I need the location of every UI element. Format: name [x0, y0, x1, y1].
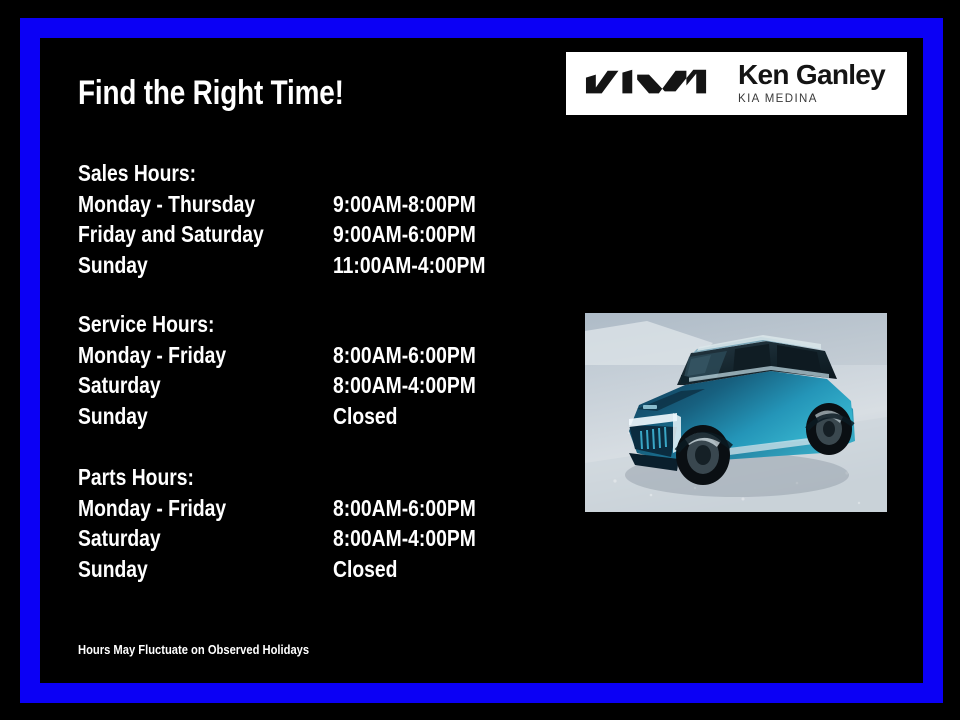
- hours-block-sales: Sales Hours: Monday - Thursday 9:00AM-8:…: [78, 158, 219, 280]
- hours-row: Sunday 11:00AM-4:00PM: [78, 250, 219, 281]
- vehicle-photo: [585, 313, 887, 512]
- holiday-disclaimer: Hours May Fluctuate on Observed Holidays: [78, 642, 309, 657]
- hours-row-time: 8:00AM-4:00PM: [333, 523, 476, 554]
- hours-block-heading: Sales Hours:: [78, 158, 196, 189]
- hours-block-parts: Parts Hours: Monday - Friday 8:00AM-6:00…: [78, 462, 216, 584]
- hours-row-day: Sunday: [78, 250, 148, 281]
- hours-row: Sunday Closed: [78, 554, 216, 585]
- hours-row-time: Closed: [333, 401, 397, 432]
- hours-row: Monday - Friday 8:00AM-6:00PM: [78, 493, 216, 524]
- hours-row-day: Monday - Friday: [78, 340, 226, 371]
- hours-block-service: Service Hours: Monday - Friday 8:00AM-6:…: [78, 309, 240, 431]
- hours-row-day: Sunday: [78, 401, 148, 432]
- dealer-name: Ken Ganley: [738, 60, 885, 90]
- hours-row-day: Sunday: [78, 554, 148, 585]
- hours-block-heading: Service Hours:: [78, 309, 214, 340]
- hours-row: Saturday 8:00AM-4:00PM: [78, 523, 216, 554]
- hours-row: Saturday 8:00AM-4:00PM: [78, 370, 240, 401]
- hours-row-day: Monday - Friday: [78, 493, 226, 524]
- hours-row: Monday - Friday 8:00AM-6:00PM: [78, 340, 240, 371]
- hours-row-time: 8:00AM-6:00PM: [333, 493, 476, 524]
- dealer-location: KIA MEDINA: [738, 91, 885, 107]
- hours-row-time: 9:00AM-6:00PM: [333, 219, 476, 250]
- hours-row-day: Friday and Saturday: [78, 219, 264, 250]
- hours-row-time: 9:00AM-8:00PM: [333, 189, 476, 220]
- hours-row-time: 11:00AM-4:00PM: [333, 250, 485, 281]
- hours-row-day: Saturday: [78, 370, 161, 401]
- dealer-name-block: Ken Ganley KIA MEDINA: [738, 60, 885, 107]
- slide-canvas: Find the Right Time! Sales Hours: Monday…: [0, 0, 960, 720]
- hours-row-day: Monday - Thursday: [78, 189, 255, 220]
- hours-row-day: Saturday: [78, 523, 161, 554]
- slide-content: Find the Right Time! Sales Hours: Monday…: [0, 0, 960, 720]
- hours-row-time: Closed: [333, 554, 397, 585]
- kia-logo-icon: [584, 67, 712, 101]
- dealer-logo: Ken Ganley KIA MEDINA: [566, 52, 907, 115]
- hours-row-time: 8:00AM-6:00PM: [333, 340, 476, 371]
- hours-row-time: 8:00AM-4:00PM: [333, 370, 476, 401]
- hours-row: Friday and Saturday 9:00AM-6:00PM: [78, 219, 219, 250]
- hours-row: Sunday Closed: [78, 401, 240, 432]
- hours-row: Monday - Thursday 9:00AM-8:00PM: [78, 189, 219, 220]
- page-title: Find the Right Time!: [78, 76, 344, 112]
- hours-block-heading: Parts Hours:: [78, 462, 194, 493]
